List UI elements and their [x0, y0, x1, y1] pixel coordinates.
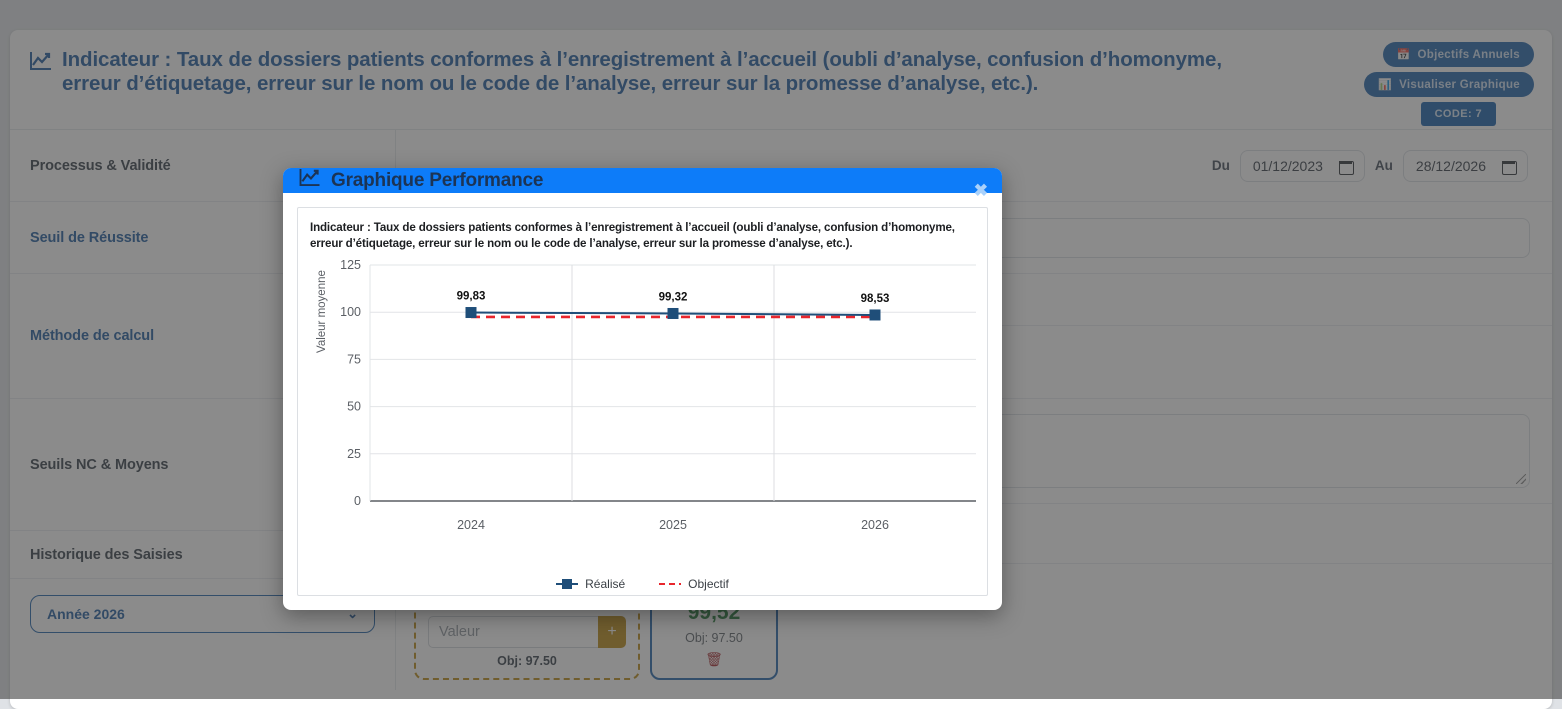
- data-point-marker: [870, 309, 881, 320]
- chart-legend: Réalisé Objectif: [310, 577, 975, 591]
- y-axis-tick: 50: [347, 400, 361, 414]
- x-axis-tick: 2026: [861, 518, 889, 532]
- legend-label: Réalisé: [585, 577, 625, 591]
- legend-marker-objectif: [659, 583, 681, 586]
- modal-header: Graphique Performance ✖: [283, 168, 1002, 193]
- legend-item-realise: Réalisé: [556, 577, 625, 591]
- close-icon[interactable]: ✖: [974, 182, 988, 199]
- chart-title: Indicateur : Taux de dossiers patients c…: [310, 220, 975, 251]
- modal-title: Graphique Performance: [299, 168, 543, 193]
- chart-svg: 025507510012520242025202699,8399,3298,53: [322, 257, 982, 557]
- chart-line-icon: [299, 168, 321, 193]
- data-point-marker: [466, 307, 477, 318]
- y-axis-tick: 0: [354, 494, 361, 508]
- y-axis-tick: 100: [340, 305, 361, 319]
- modal-body: Indicateur : Taux de dossiers patients c…: [283, 193, 1002, 610]
- legend-label: Objectif: [688, 577, 729, 591]
- y-axis-tick: 75: [347, 352, 361, 366]
- legend-marker-realise: [556, 579, 578, 589]
- data-point-label: 99,32: [659, 291, 688, 303]
- chart-plot: Valeur moyenne 0255075100125202420252026…: [310, 257, 975, 575]
- data-point-marker: [668, 308, 679, 319]
- chart-container: Indicateur : Taux de dossiers patients c…: [297, 207, 988, 596]
- data-point-label: 98,53: [861, 293, 890, 305]
- modal-title-text: Graphique Performance: [331, 170, 543, 192]
- y-axis-tick: 25: [347, 447, 361, 461]
- x-axis-tick: 2025: [659, 518, 687, 532]
- y-axis-tick: 125: [340, 258, 361, 272]
- graphique-performance-modal: Graphique Performance ✖ Indicateur : Tau…: [283, 168, 1002, 610]
- x-axis-tick: 2024: [457, 518, 485, 532]
- legend-item-objectif: Objectif: [659, 577, 729, 591]
- data-point-label: 99,83: [457, 291, 486, 303]
